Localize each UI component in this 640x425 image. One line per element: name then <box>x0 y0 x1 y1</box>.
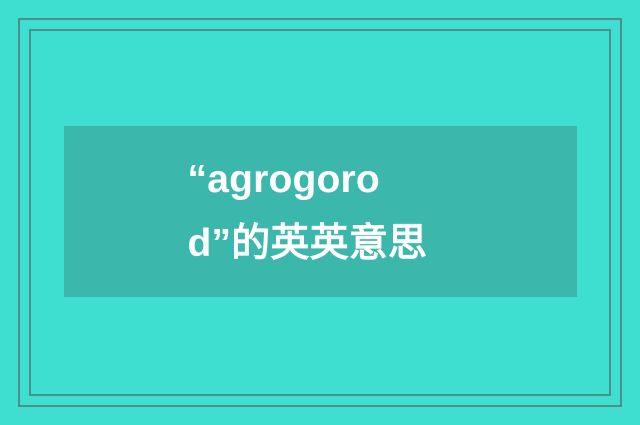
page-title: “agrogorod”的英英意思 <box>188 148 454 276</box>
title-plate: “agrogorod”的英英意思 <box>64 126 577 297</box>
title-image-card: “agrogorod”的英英意思 <box>0 0 640 425</box>
